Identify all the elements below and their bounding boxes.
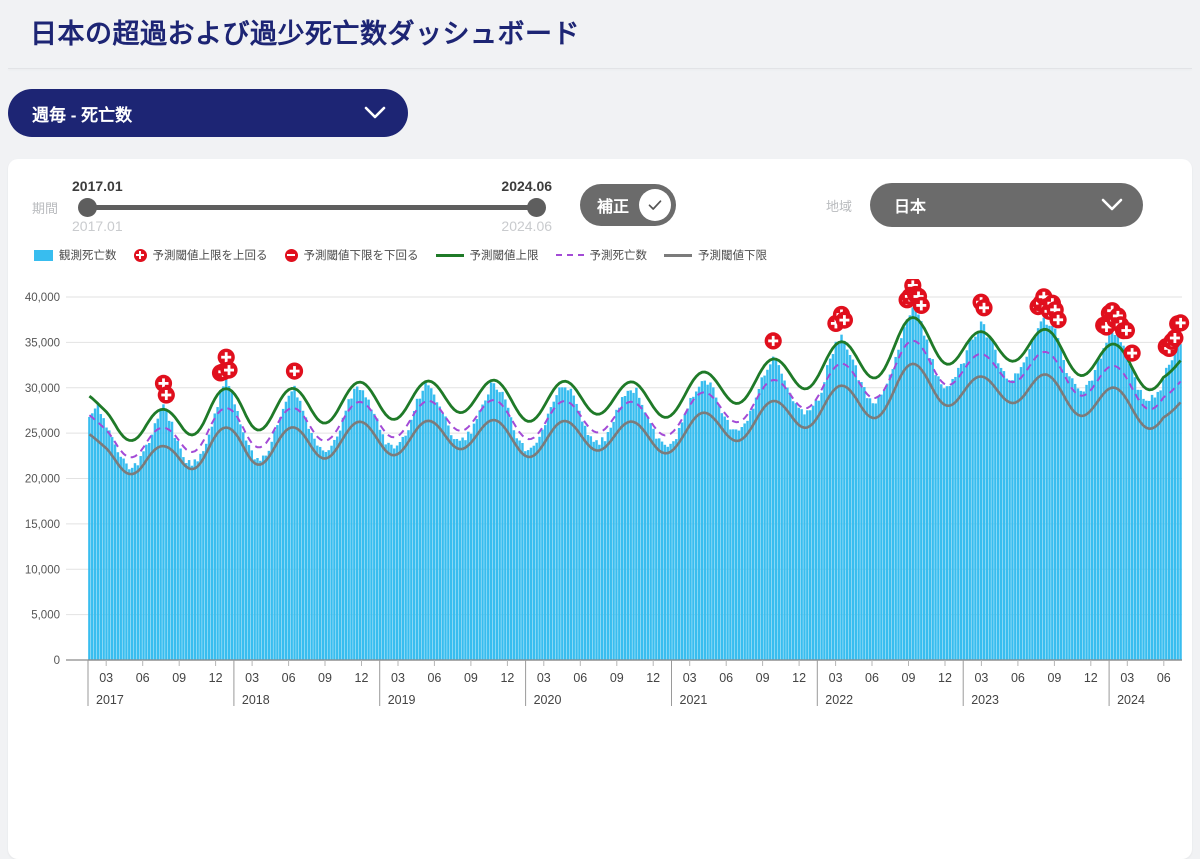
- chart-card: 期間 2017.01 2024.06 2017.01 2024.06 補正 地域…: [8, 159, 1192, 859]
- chart-svg: 05,00010,00015,00020,00025,00030,00035,0…: [8, 279, 1192, 739]
- region-block: 地域 日本: [826, 183, 1143, 227]
- chevron-down-icon: [1101, 198, 1123, 212]
- region-label: 地域: [826, 196, 852, 215]
- svg-text:12: 12: [938, 671, 952, 685]
- svg-text:20,000: 20,000: [25, 474, 60, 486]
- top-select-row: 週毎 - 死亡数: [0, 69, 1200, 137]
- svg-text:06: 06: [573, 671, 587, 685]
- svg-text:2020: 2020: [534, 693, 562, 707]
- svg-text:12: 12: [500, 671, 514, 685]
- slider-handle-start[interactable]: [78, 198, 97, 217]
- slider-handle-end[interactable]: [527, 198, 546, 217]
- svg-text:03: 03: [829, 671, 843, 685]
- svg-text:03: 03: [245, 671, 259, 685]
- check-icon: [639, 189, 671, 221]
- svg-text:06: 06: [136, 671, 150, 685]
- period-end-value: 2024.06: [501, 178, 552, 194]
- metric-select-value: 週毎 - 死亡数: [32, 101, 132, 126]
- adjust-toggle[interactable]: 補正: [580, 184, 676, 226]
- page-title: 日本の超過および過少死亡数ダッシュボード: [30, 14, 1200, 54]
- chevron-down-icon: [364, 106, 386, 120]
- svg-text:12: 12: [355, 671, 369, 685]
- svg-text:09: 09: [318, 671, 332, 685]
- svg-text:03: 03: [683, 671, 697, 685]
- svg-text:5,000: 5,000: [31, 610, 60, 622]
- plus-circle-icon: [134, 249, 147, 262]
- svg-text:2023: 2023: [971, 693, 999, 707]
- period-end-bound: 2024.06: [501, 218, 552, 234]
- gray-line-icon: [664, 254, 692, 257]
- svg-text:06: 06: [1011, 671, 1025, 685]
- svg-text:03: 03: [1120, 671, 1134, 685]
- svg-text:09: 09: [902, 671, 916, 685]
- svg-text:06: 06: [719, 671, 733, 685]
- minus-circle-icon: [285, 249, 298, 262]
- excess-mortality-chart[interactable]: 05,00010,00015,00020,00025,00030,00035,0…: [8, 279, 1192, 719]
- svg-text:03: 03: [391, 671, 405, 685]
- svg-text:12: 12: [1084, 671, 1098, 685]
- svg-text:2024: 2024: [1117, 693, 1145, 707]
- purple-dashed-line-icon: [556, 254, 584, 256]
- green-line-icon: [436, 254, 464, 257]
- svg-text:35,000: 35,000: [25, 337, 60, 349]
- svg-text:25,000: 25,000: [25, 428, 60, 440]
- region-select-value: 日本: [894, 193, 926, 217]
- svg-text:30,000: 30,000: [25, 383, 60, 395]
- svg-text:03: 03: [537, 671, 551, 685]
- period-start-bound: 2017.01: [72, 218, 123, 234]
- svg-text:2017: 2017: [96, 693, 124, 707]
- svg-text:09: 09: [756, 671, 770, 685]
- svg-text:03: 03: [974, 671, 988, 685]
- svg-text:12: 12: [792, 671, 806, 685]
- svg-text:10,000: 10,000: [25, 564, 60, 576]
- page-header: 日本の超過および過少死亡数ダッシュボード: [0, 0, 1200, 66]
- svg-text:2018: 2018: [242, 693, 270, 707]
- svg-text:2022: 2022: [825, 693, 853, 707]
- svg-text:40,000: 40,000: [25, 292, 60, 304]
- svg-text:0: 0: [54, 655, 60, 667]
- period-slider[interactable]: 2017.01 2024.06 2017.01 2024.06: [72, 174, 552, 236]
- svg-text:15,000: 15,000: [25, 519, 60, 531]
- svg-text:06: 06: [865, 671, 879, 685]
- svg-text:06: 06: [1157, 671, 1171, 685]
- svg-text:12: 12: [209, 671, 223, 685]
- period-slider-block: 期間 2017.01 2024.06 2017.01 2024.06: [32, 174, 552, 236]
- period-label: 期間: [32, 194, 58, 217]
- slider-track: [86, 205, 538, 210]
- adjust-toggle-label: 補正: [597, 193, 629, 217]
- svg-text:2021: 2021: [680, 693, 708, 707]
- svg-text:03: 03: [99, 671, 113, 685]
- observed-swatch-icon: [34, 250, 53, 261]
- svg-text:09: 09: [1047, 671, 1061, 685]
- svg-text:12: 12: [646, 671, 660, 685]
- svg-text:09: 09: [464, 671, 478, 685]
- metric-select[interactable]: 週毎 - 死亡数: [8, 89, 408, 137]
- region-select[interactable]: 日本: [870, 183, 1143, 227]
- svg-text:09: 09: [172, 671, 186, 685]
- period-start-value: 2017.01: [72, 178, 123, 194]
- svg-text:06: 06: [282, 671, 296, 685]
- svg-text:2019: 2019: [388, 693, 416, 707]
- svg-text:06: 06: [427, 671, 441, 685]
- controls-row: 期間 2017.01 2024.06 2017.01 2024.06 補正 地域…: [8, 159, 1192, 251]
- svg-text:09: 09: [610, 671, 624, 685]
